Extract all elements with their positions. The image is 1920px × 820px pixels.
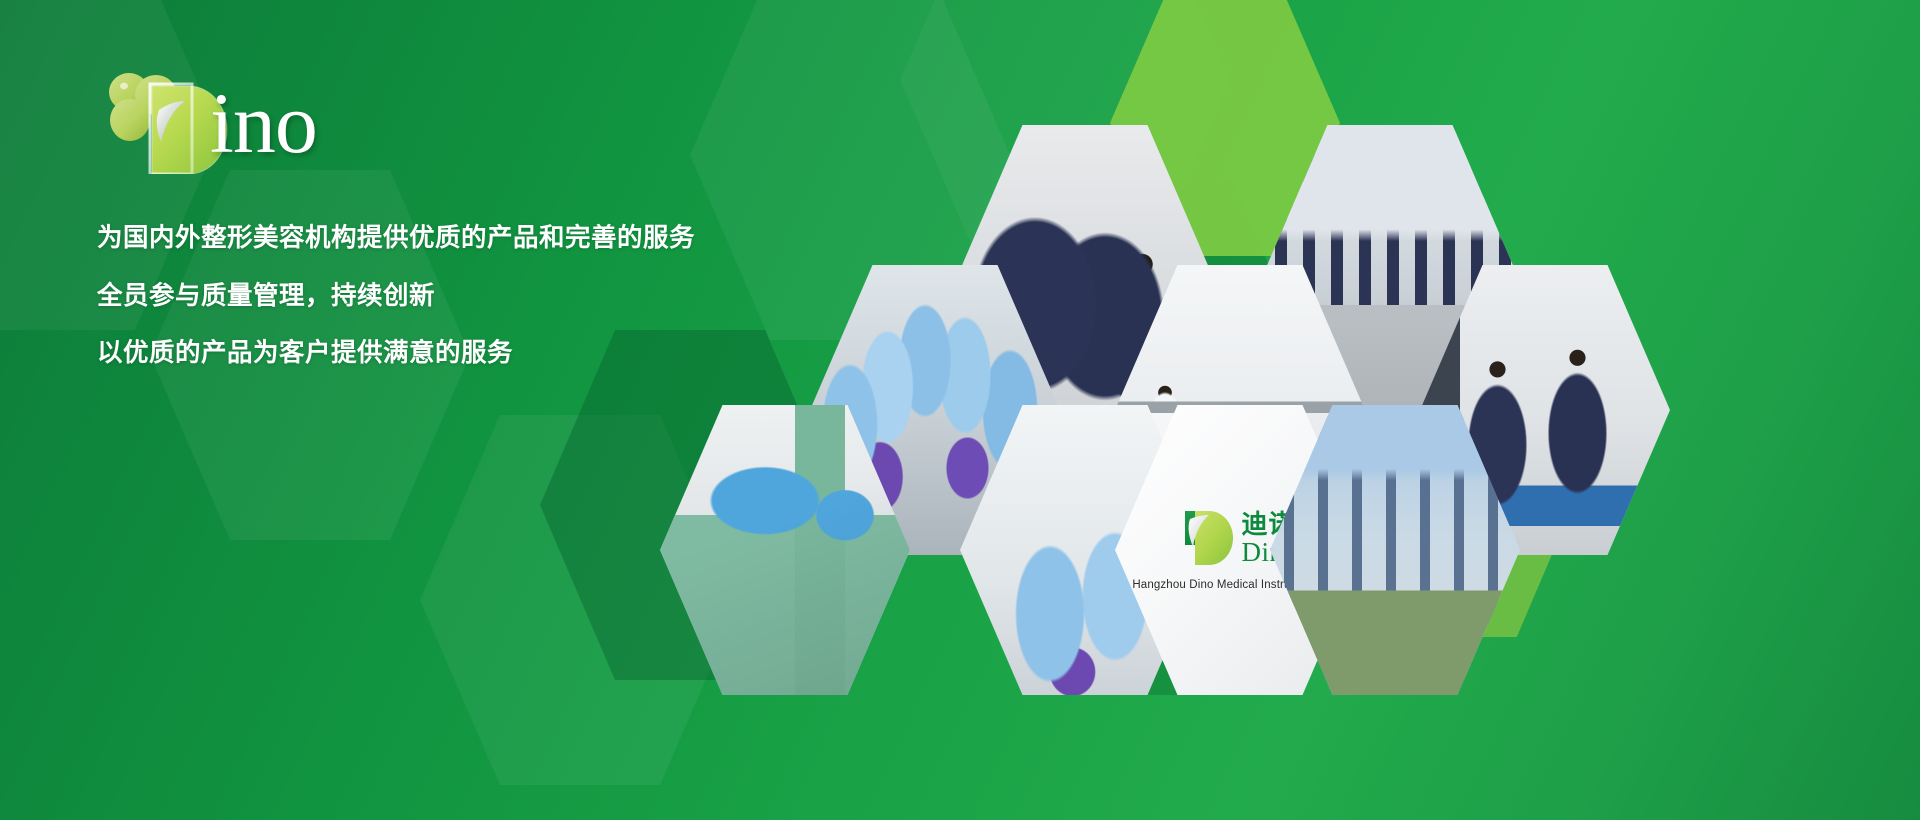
dino-leaf-logo-icon [1183, 509, 1233, 567]
hero-banner: ino 为国内外整形美容机构提供优质的产品和完善的服务 全员参与质量管理，持续创… [0, 0, 1920, 820]
brand-wordmark: ino [210, 80, 317, 166]
hexagon-photo-cluster: 迪诺® Dino Hangzhou Dino Medical Instrumen… [660, 20, 1920, 820]
brand-logo: ino [97, 62, 397, 174]
